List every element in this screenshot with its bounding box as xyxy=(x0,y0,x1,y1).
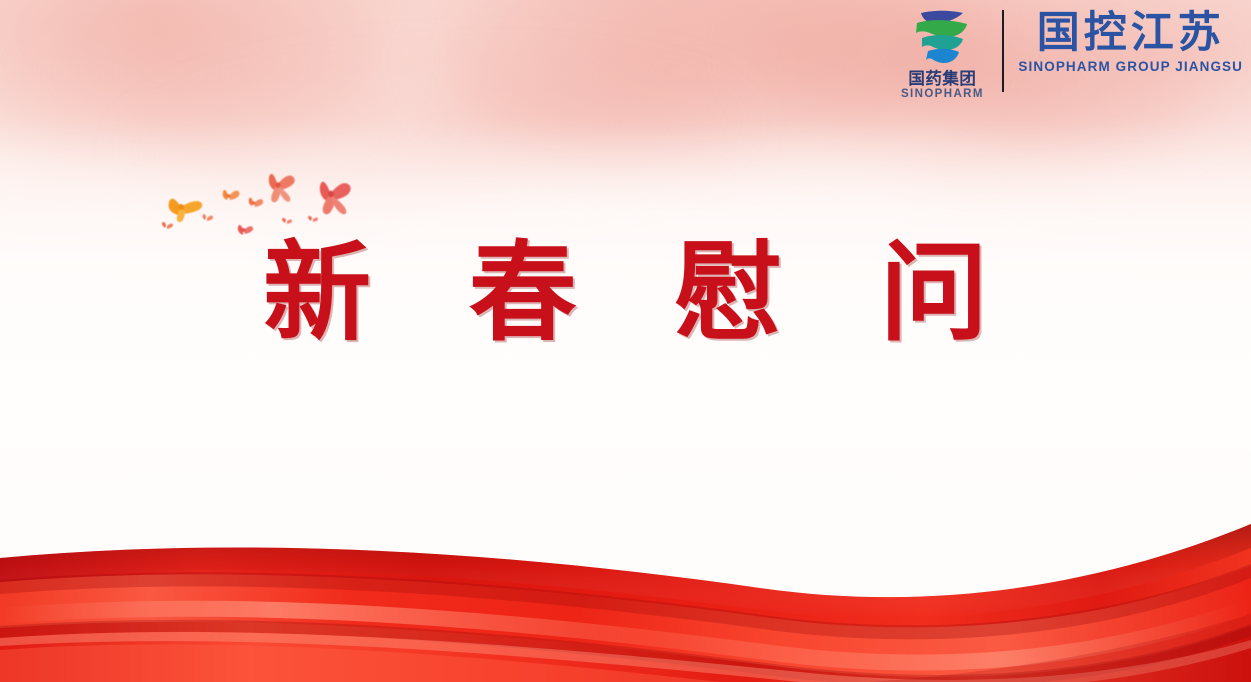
jiangsu-brand: 国控江苏 SINOPHARM GROUP JIANGSU xyxy=(1018,8,1243,75)
sinopharm-en-label: SINOPHARM xyxy=(901,88,984,101)
jiangsu-en-label: SINOPHARM GROUP JIANGSU xyxy=(1018,60,1243,75)
poster-canvas: 国药集团 SINOPHARM 国控江苏 SINOPHARM GROUP JIAN… xyxy=(0,0,1251,682)
brand-divider xyxy=(1002,10,1004,92)
jiangsu-cn-label: 国控江苏 xyxy=(1037,12,1225,55)
sinopharm-group-brand: 国药集团 SINOPHARM xyxy=(896,8,988,101)
sinopharm-swoosh-logo-icon xyxy=(905,10,979,68)
sinopharm-cn-label: 国药集团 xyxy=(908,70,976,87)
poster-headline: 新 春 慰 问 xyxy=(0,236,1251,353)
brand-lockup: 国药集团 SINOPHARM 国控江苏 SINOPHARM GROUP JIAN… xyxy=(896,8,1243,104)
